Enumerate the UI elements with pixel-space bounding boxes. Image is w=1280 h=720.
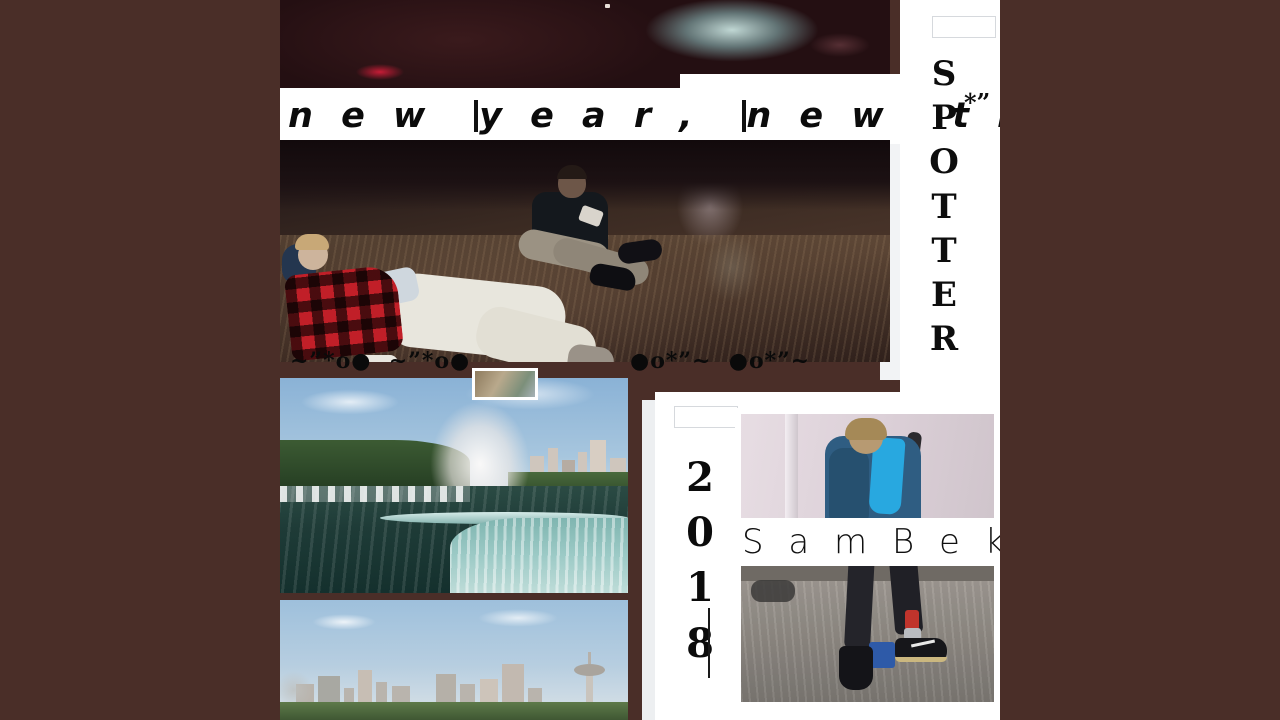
photo-skyline-smoke [280,660,324,706]
artist-letter: T [916,229,972,273]
building [480,679,498,704]
photo-skyline-buildings [280,644,628,704]
photo-falls-rapids [280,486,470,502]
artist-letter: T [916,185,972,229]
artist-letter: R [916,317,972,361]
person-red-sock [905,610,919,630]
year-digit: 1 [672,560,728,615]
photo-falls-inset [472,368,538,400]
year-digit: 2 [672,450,728,505]
title-part-2: y e a r , [479,96,741,136]
album-title: n e w y e a r , n e w t r a x [288,88,938,144]
artist-letter: O [916,140,972,184]
person-hair [845,418,887,440]
artist-letter: E [916,273,972,317]
building [436,674,456,704]
person-lying-hair [295,234,329,250]
building [376,682,387,704]
photo-two-people-ground [280,140,890,362]
credit-name: S a m B e k t [742,518,1000,566]
building [502,664,524,704]
year-rule-line [708,608,710,678]
tofu-glyph-icon [742,100,746,132]
photo-niagara-falls [280,378,628,593]
observation-tower-pod [574,664,605,676]
building [460,684,475,704]
year-digit: 8 [672,616,728,671]
photo-city-skyline [280,600,628,720]
decoration-glyphs-right: ●o*”~ ●o*”~ [630,348,810,374]
artist-decoration-mark: *” [964,88,990,117]
title-part-1: n e w [288,96,474,136]
photo-skyline-treeline [280,702,628,720]
outline-box-top [932,16,996,38]
year-digit: 0 [672,505,728,560]
observation-tower-spire [588,652,591,664]
person-sneaker-sole [895,657,947,662]
photo-person-stray-shoe [751,580,795,602]
photo-highlight-spark [605,4,610,8]
person-jacket-shade [829,448,869,528]
outline-box-bottom [674,406,738,428]
tofu-glyph-icon [474,100,478,132]
album-cover-canvas: n e w y e a r , n e w t r a x S P O T T … [0,0,1280,720]
year-vertical: 2 0 1 8 [672,450,728,671]
person-boot-left [839,646,873,690]
building [358,670,372,704]
decoration-glyphs-left: ~”*o● ~”*o● [290,348,470,374]
photo-falls-water [450,518,628,593]
artwork-area: n e w y e a r , n e w t r a x S P O T T … [280,0,1000,720]
